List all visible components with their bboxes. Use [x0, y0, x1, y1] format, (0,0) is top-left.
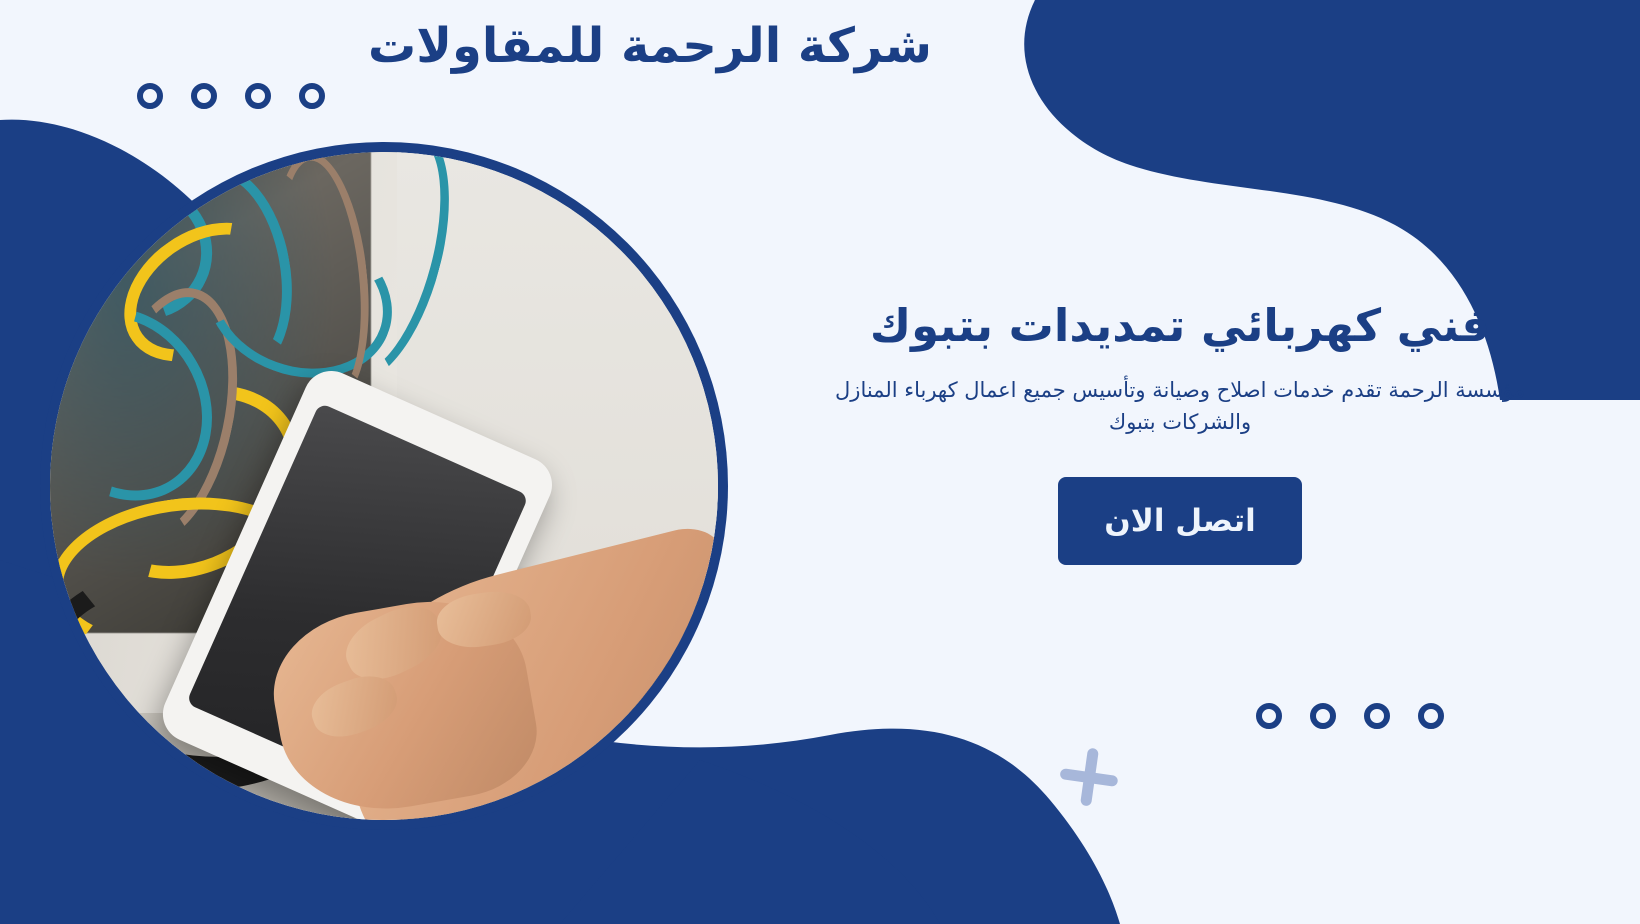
decorative-dots-bottom	[1256, 703, 1444, 729]
circle-dot-icon	[1418, 703, 1444, 729]
content-column: فني كهربائي تمديدات بتبوك مؤسسة الرحمة ت…	[820, 300, 1540, 565]
circle-dot-icon	[1256, 703, 1282, 729]
blob-top-right	[1032, 0, 1640, 300]
plus-icon	[1056, 744, 1122, 810]
brand-title: شركة الرحمة للمقاولات	[300, 18, 1000, 74]
circle-dot-icon	[1364, 703, 1390, 729]
circle-dot-icon	[245, 83, 271, 109]
decorative-dots-top	[137, 83, 325, 109]
circle-dot-icon	[191, 83, 217, 109]
circle-dot-icon	[299, 83, 325, 109]
circle-dot-icon	[137, 83, 163, 109]
cta-row: اتصل الان	[820, 477, 1540, 565]
page-subtitle: مؤسسة الرحمة تقدم خدمات اصلاح وصيانة وتأ…	[820, 374, 1540, 439]
circle-dot-icon	[1310, 703, 1336, 729]
hero-photo	[40, 142, 728, 830]
call-now-button[interactable]: اتصل الان	[1058, 477, 1301, 565]
hero-photo-circle	[50, 152, 718, 820]
page-title: فني كهربائي تمديدات بتبوك	[820, 300, 1540, 352]
promo-banner: شركة الرحمة للمقاولات فني كهربائي تمديدا…	[0, 0, 1640, 924]
